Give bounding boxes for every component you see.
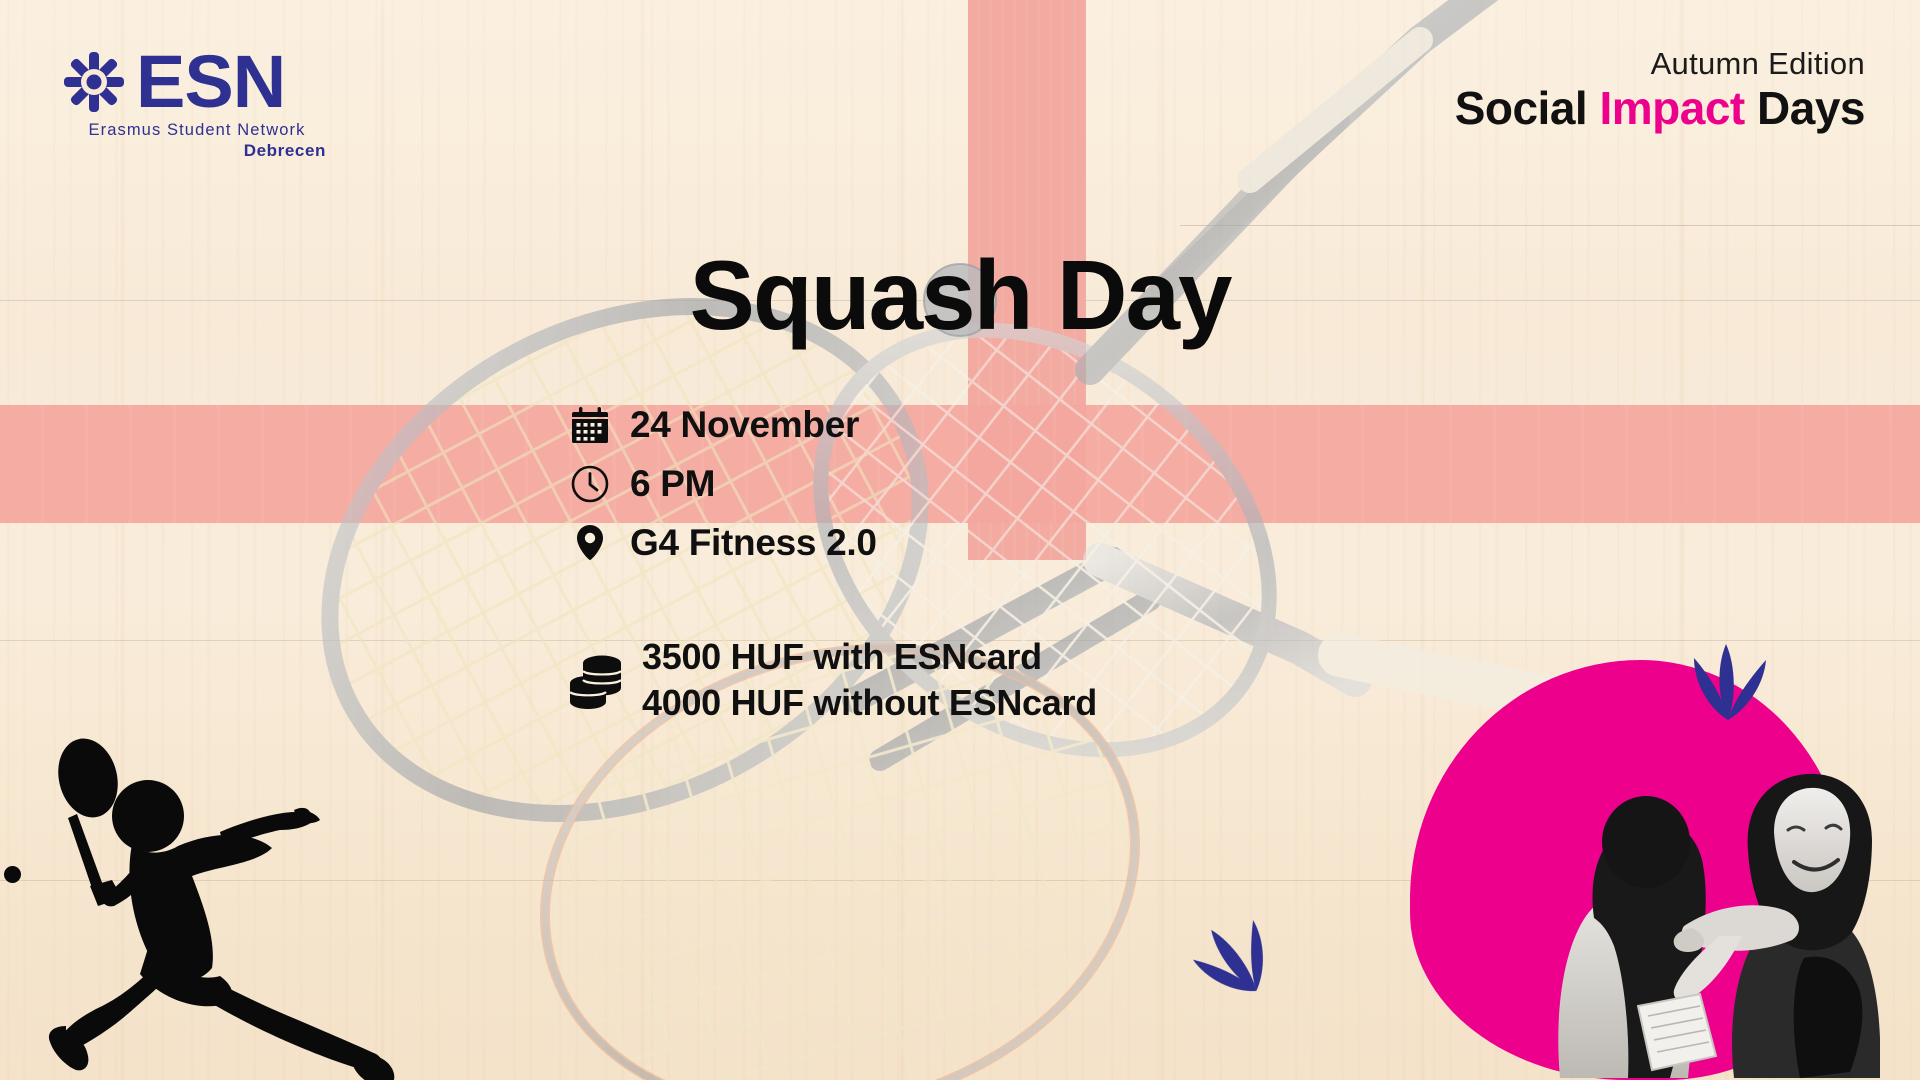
court-line-horizontal	[0, 405, 1920, 523]
calendar-icon	[568, 403, 612, 447]
campaign-edition: Autumn Edition	[1455, 48, 1865, 81]
esn-logo-top: ESN	[62, 48, 332, 116]
campaign-title-accent: Impact	[1599, 82, 1744, 134]
event-detail-date: 24 November	[568, 395, 877, 454]
event-title: Squash Day	[690, 246, 1231, 344]
esn-section-name: Debrecen	[62, 141, 332, 161]
two-people-hugging-photo	[1448, 680, 1888, 1080]
campaign-title-part1: Social	[1455, 82, 1588, 134]
squash-ball-dot	[4, 866, 21, 883]
event-date-text: 24 November	[630, 404, 859, 446]
location-pin-icon	[568, 521, 612, 565]
campaign-branding: Autumn Edition Social Impact Days	[1455, 48, 1865, 133]
campaign-title: Social Impact Days	[1455, 83, 1865, 134]
coins-icon	[568, 649, 626, 711]
esn-wordmark: ESN	[136, 48, 285, 116]
esn-logo[interactable]: ESN Erasmus Student Network Debrecen	[62, 48, 332, 161]
campaign-title-part2: Days	[1757, 82, 1865, 134]
blue-sparkle-icon	[1682, 638, 1774, 724]
event-detail-location: G4 Fitness 2.0	[568, 513, 877, 572]
event-price-lines: 3500 HUF with ESNcard 4000 HUF without E…	[642, 635, 1097, 724]
event-details-list: 24 November 6 PM G4 Fitness 2.0	[568, 395, 877, 572]
event-pricing: 3500 HUF with ESNcard 4000 HUF without E…	[568, 635, 1097, 724]
poster-canvas: ESN Erasmus Student Network Debrecen Aut…	[0, 0, 1920, 1080]
photo-collage	[1400, 660, 1920, 1080]
squash-player-silhouette	[20, 736, 450, 1080]
event-time-text: 6 PM	[630, 463, 715, 505]
event-location-text: G4 Fitness 2.0	[630, 522, 877, 564]
esn-subtitle: Erasmus Student Network	[62, 121, 332, 140]
esn-star-icon	[62, 50, 126, 114]
price-without-esncard: 4000 HUF without ESNcard	[642, 681, 1097, 724]
clock-icon	[568, 462, 612, 506]
price-with-esncard: 3500 HUF with ESNcard	[642, 635, 1097, 678]
event-detail-time: 6 PM	[568, 454, 877, 513]
plank-seam	[1180, 225, 1920, 226]
